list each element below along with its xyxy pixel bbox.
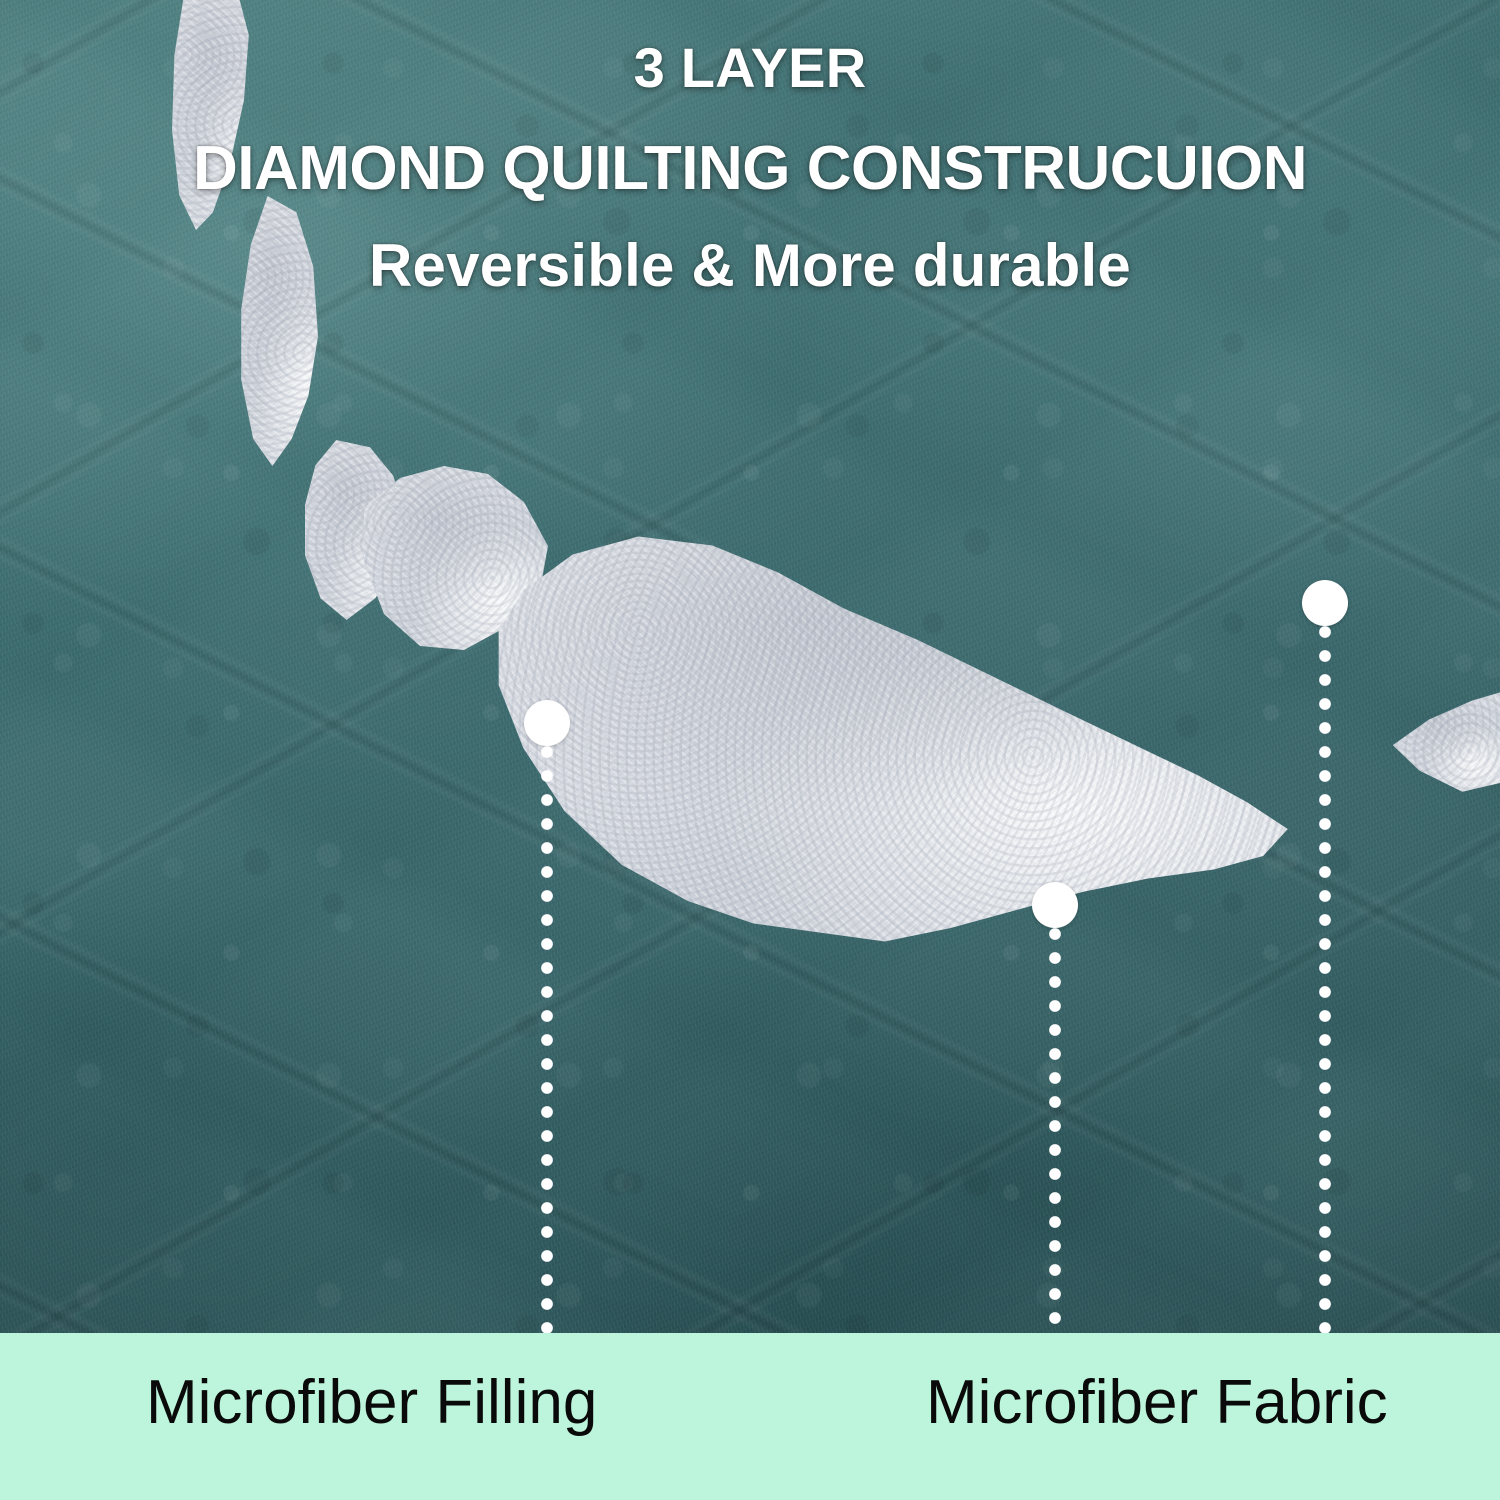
headline-line-3: Reversible & More durable [0, 236, 1500, 296]
headline-line-2: DIAMOND QUILTING CONSTRUCUION [0, 138, 1500, 200]
caption-microfiber-fabric: Microfiber Fabric [926, 1369, 1388, 1437]
callout-dotted-leader-line [1049, 928, 1061, 1386]
caption-microfiber-filling: Microfiber Filling [146, 1369, 597, 1437]
callout-dotted-leader-line [541, 746, 553, 1386]
caption-band: Microfiber Filling Microfiber Fabric [0, 1333, 1500, 1500]
headline-line-1: 3 LAYER [0, 40, 1500, 96]
product-feature-infographic: 3 LAYER DIAMOND QUILTING CONSTRUCUION Re… [0, 0, 1500, 1500]
callout-dot-icon [1032, 882, 1078, 928]
callout-dotted-leader-line [1319, 626, 1331, 1386]
callout-dot-icon [524, 700, 570, 746]
callout-dot-icon [1302, 580, 1348, 626]
